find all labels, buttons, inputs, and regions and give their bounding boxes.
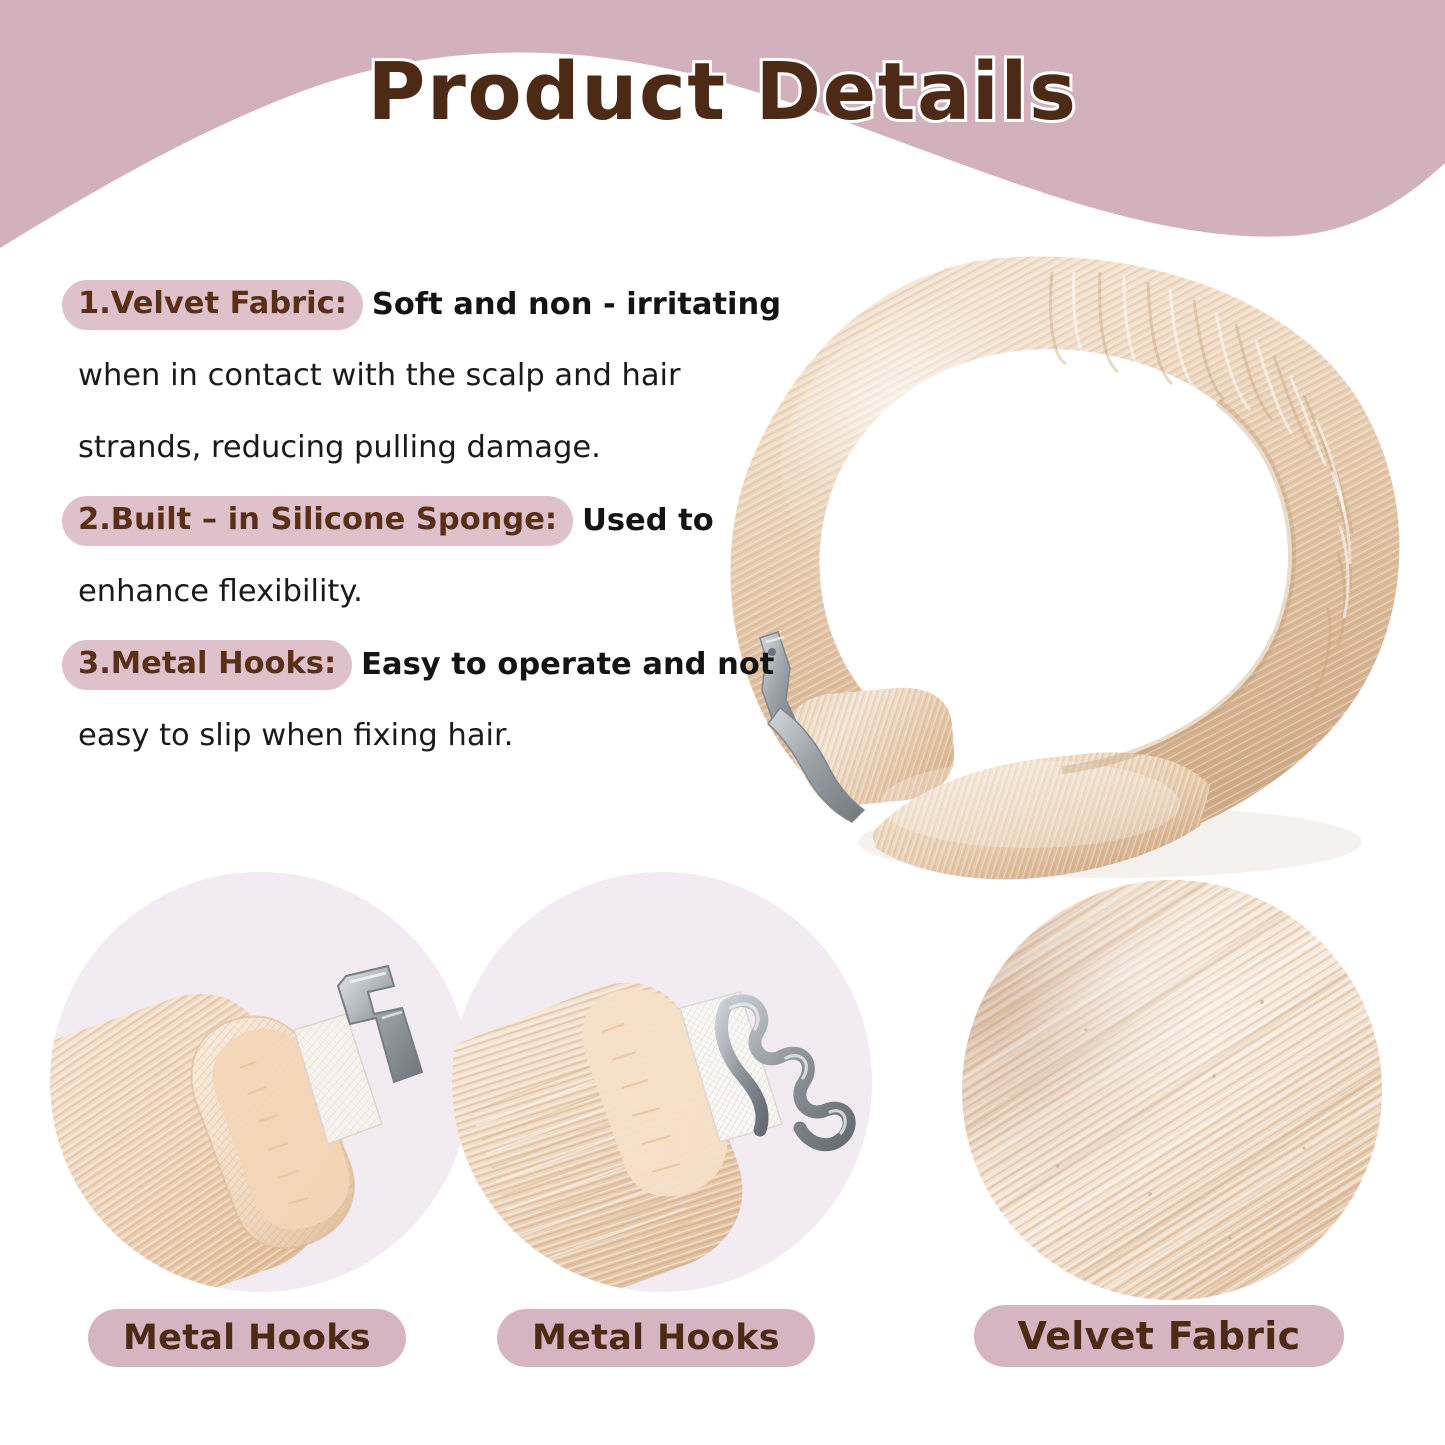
feature-2-rest: Used to [573, 499, 714, 543]
detail-circle-metal-hooks-1 [50, 872, 470, 1292]
feature-item-2-head: 2.Built – in Silicone Sponge:Used to [62, 484, 762, 556]
feature-item-3-head: 3.Metal Hooks:Easy to operate and not [62, 628, 762, 700]
feature-2-tag: 2.Built – in Silicone Sponge: [62, 496, 573, 546]
feature-2-line-2: enhance flexibility. [62, 556, 762, 628]
feature-1-line-2: when in contact with the scalp and hair [62, 340, 762, 412]
product-details-infographic: Product Details 1.Velvet Fabric:Soft and… [0, 0, 1445, 1445]
detail-circle-velvet-fabric [962, 880, 1382, 1300]
feature-list: 1.Velvet Fabric:Soft and non - irritatin… [62, 268, 762, 772]
feature-item-1-head: 1.Velvet Fabric:Soft and non - irritatin… [62, 268, 762, 340]
caption-metal-hooks-2: Metal Hooks [497, 1309, 815, 1367]
feature-1-line-3: strands, reducing pulling damage. [62, 412, 762, 484]
feature-1-rest: Soft and non - irritating [363, 283, 781, 327]
hero-product-image [700, 238, 1445, 888]
caption-metal-hooks-1: Metal Hooks [88, 1309, 406, 1367]
caption-velvet-fabric: Velvet Fabric [974, 1305, 1344, 1367]
feature-3-tag: 3.Metal Hooks: [62, 640, 352, 690]
feature-3-line-2: easy to slip when fixing hair. [62, 700, 762, 772]
feature-3-rest: Easy to operate and not [352, 643, 774, 687]
page-title: Product Details [0, 46, 1445, 138]
detail-circle-metal-hooks-2 [452, 872, 872, 1292]
feature-1-tag: 1.Velvet Fabric: [62, 280, 363, 330]
